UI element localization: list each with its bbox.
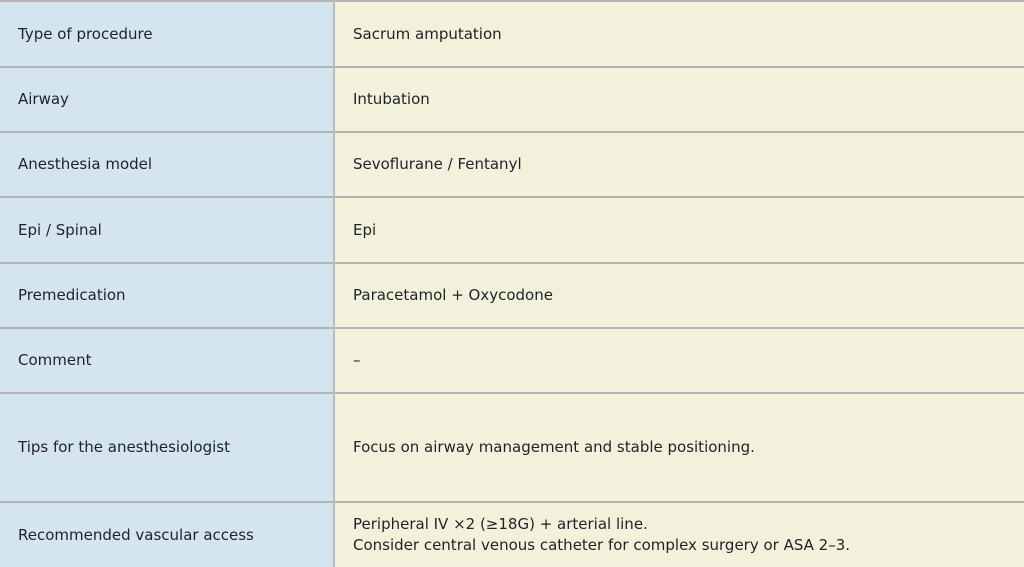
row-label-text: Airway: [18, 89, 315, 110]
table-row: Tips for the anesthesiologistFocus on ai…: [0, 393, 1024, 502]
row-label-cell: Recommended vascular access: [0, 502, 334, 567]
anesthesia-procedure-table: Type of procedureSacrum amputationAirway…: [0, 0, 1024, 567]
row-label-text: Anesthesia model: [18, 154, 315, 175]
row-label-text: Premedication: [18, 285, 315, 306]
row-value-cell: Sacrum amputation: [334, 1, 1024, 67]
table-row: AirwayIntubation: [0, 67, 1024, 132]
row-label-cell: Comment: [0, 328, 334, 393]
row-label-cell: Tips for the anesthesiologist: [0, 393, 334, 502]
row-value-cell: Intubation: [334, 67, 1024, 132]
table-row: Comment–: [0, 328, 1024, 393]
row-label-text: Comment: [18, 350, 315, 371]
row-value-text: Peripheral IV ×2 (≥18G) + arterial line.…: [353, 514, 1006, 555]
row-value-text: Paracetamol + Oxycodone: [353, 285, 1006, 306]
table-row: Type of procedureSacrum amputation: [0, 1, 1024, 67]
row-value-text: Focus on airway management and stable po…: [353, 437, 1006, 458]
row-label-cell: Type of procedure: [0, 1, 334, 67]
row-value-text: –: [353, 350, 1006, 371]
row-label-cell: Anesthesia model: [0, 132, 334, 197]
row-value-cell: Paracetamol + Oxycodone: [334, 263, 1024, 328]
row-label-text: Epi / Spinal: [18, 220, 315, 241]
table-row: PremedicationParacetamol + Oxycodone: [0, 263, 1024, 328]
row-label-cell: Epi / Spinal: [0, 197, 334, 263]
row-label-text: Recommended vascular access: [18, 525, 315, 546]
row-value-text: Intubation: [353, 89, 1006, 110]
row-value-cell: Sevoflurane / Fentanyl: [334, 132, 1024, 197]
row-value-text: Sevoflurane / Fentanyl: [353, 154, 1006, 175]
row-value-cell: Focus on airway management and stable po…: [334, 393, 1024, 502]
row-label-cell: Airway: [0, 67, 334, 132]
row-value-cell: –: [334, 328, 1024, 393]
row-value-text: Sacrum amputation: [353, 24, 1006, 45]
row-label-cell: Premedication: [0, 263, 334, 328]
row-value-cell: Epi: [334, 197, 1024, 263]
row-value-text: Epi: [353, 220, 1006, 241]
table-row: Anesthesia modelSevoflurane / Fentanyl: [0, 132, 1024, 197]
table-row: Recommended vascular accessPeripheral IV…: [0, 502, 1024, 567]
table-row: Epi / SpinalEpi: [0, 197, 1024, 263]
table-body: Type of procedureSacrum amputationAirway…: [0, 1, 1024, 567]
row-label-text: Tips for the anesthesiologist: [18, 437, 315, 458]
row-value-cell: Peripheral IV ×2 (≥18G) + arterial line.…: [334, 502, 1024, 567]
row-label-text: Type of procedure: [18, 24, 315, 45]
